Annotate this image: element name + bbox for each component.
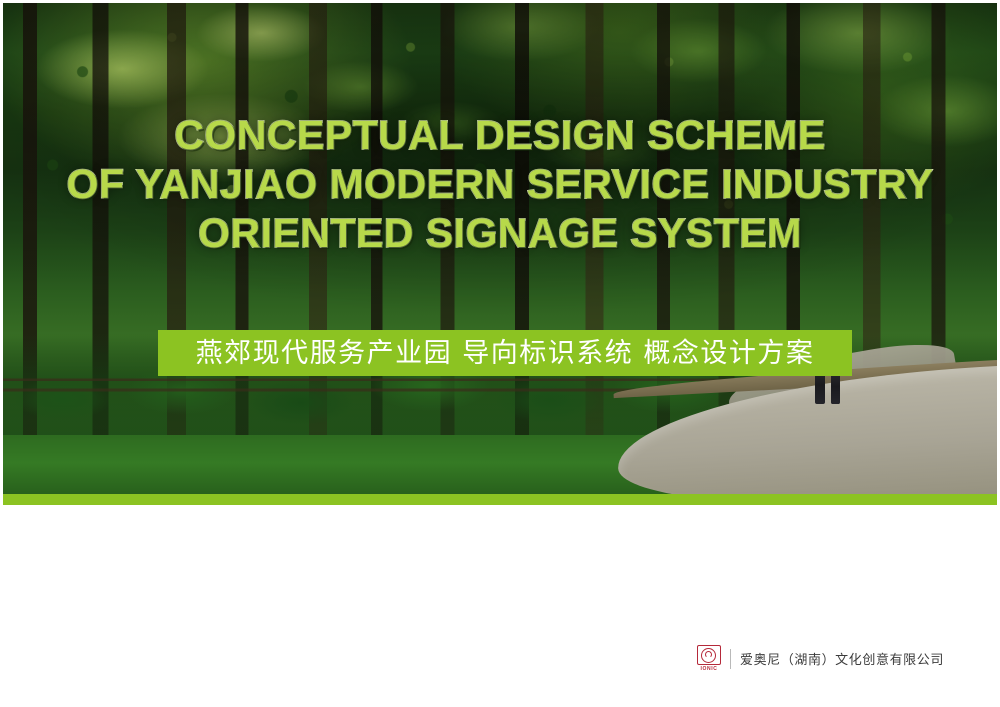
subtitle-bar: 燕郊现代服务产业园 导向标识系统 概念设计方案 (158, 330, 852, 376)
footer-separator (730, 649, 731, 669)
hero-photo: CONCEPTUAL DESIGN SCHEME OF YANJIAO MODE… (3, 3, 997, 494)
title-line-3: ORIENTED SIGNAGE SYSTEM (3, 209, 997, 258)
ionic-logo: IONIC (697, 645, 721, 672)
presentation-cover-slide: CONCEPTUAL DESIGN SCHEME OF YANJIAO MODE… (0, 0, 1000, 707)
title-line-1: CONCEPTUAL DESIGN SCHEME (3, 111, 997, 160)
footer-company-name: 爱奥尼（湖南）文化创意有限公司 (740, 649, 944, 668)
logo-spiral-icon (697, 645, 721, 665)
footer-branding: IONIC 爱奥尼（湖南）文化创意有限公司 (697, 645, 944, 672)
subtitle-text: 燕郊现代服务产业园 导向标识系统 概念设计方案 (196, 340, 815, 367)
logo-wordmark: IONIC (701, 666, 718, 672)
title-block: CONCEPTUAL DESIGN SCHEME OF YANJIAO MODE… (3, 111, 997, 258)
title-line-2: OF YANJIAO MODERN SERVICE INDUSTRY (3, 160, 997, 209)
spiral-glyph (701, 648, 716, 663)
green-divider-band (3, 494, 997, 505)
